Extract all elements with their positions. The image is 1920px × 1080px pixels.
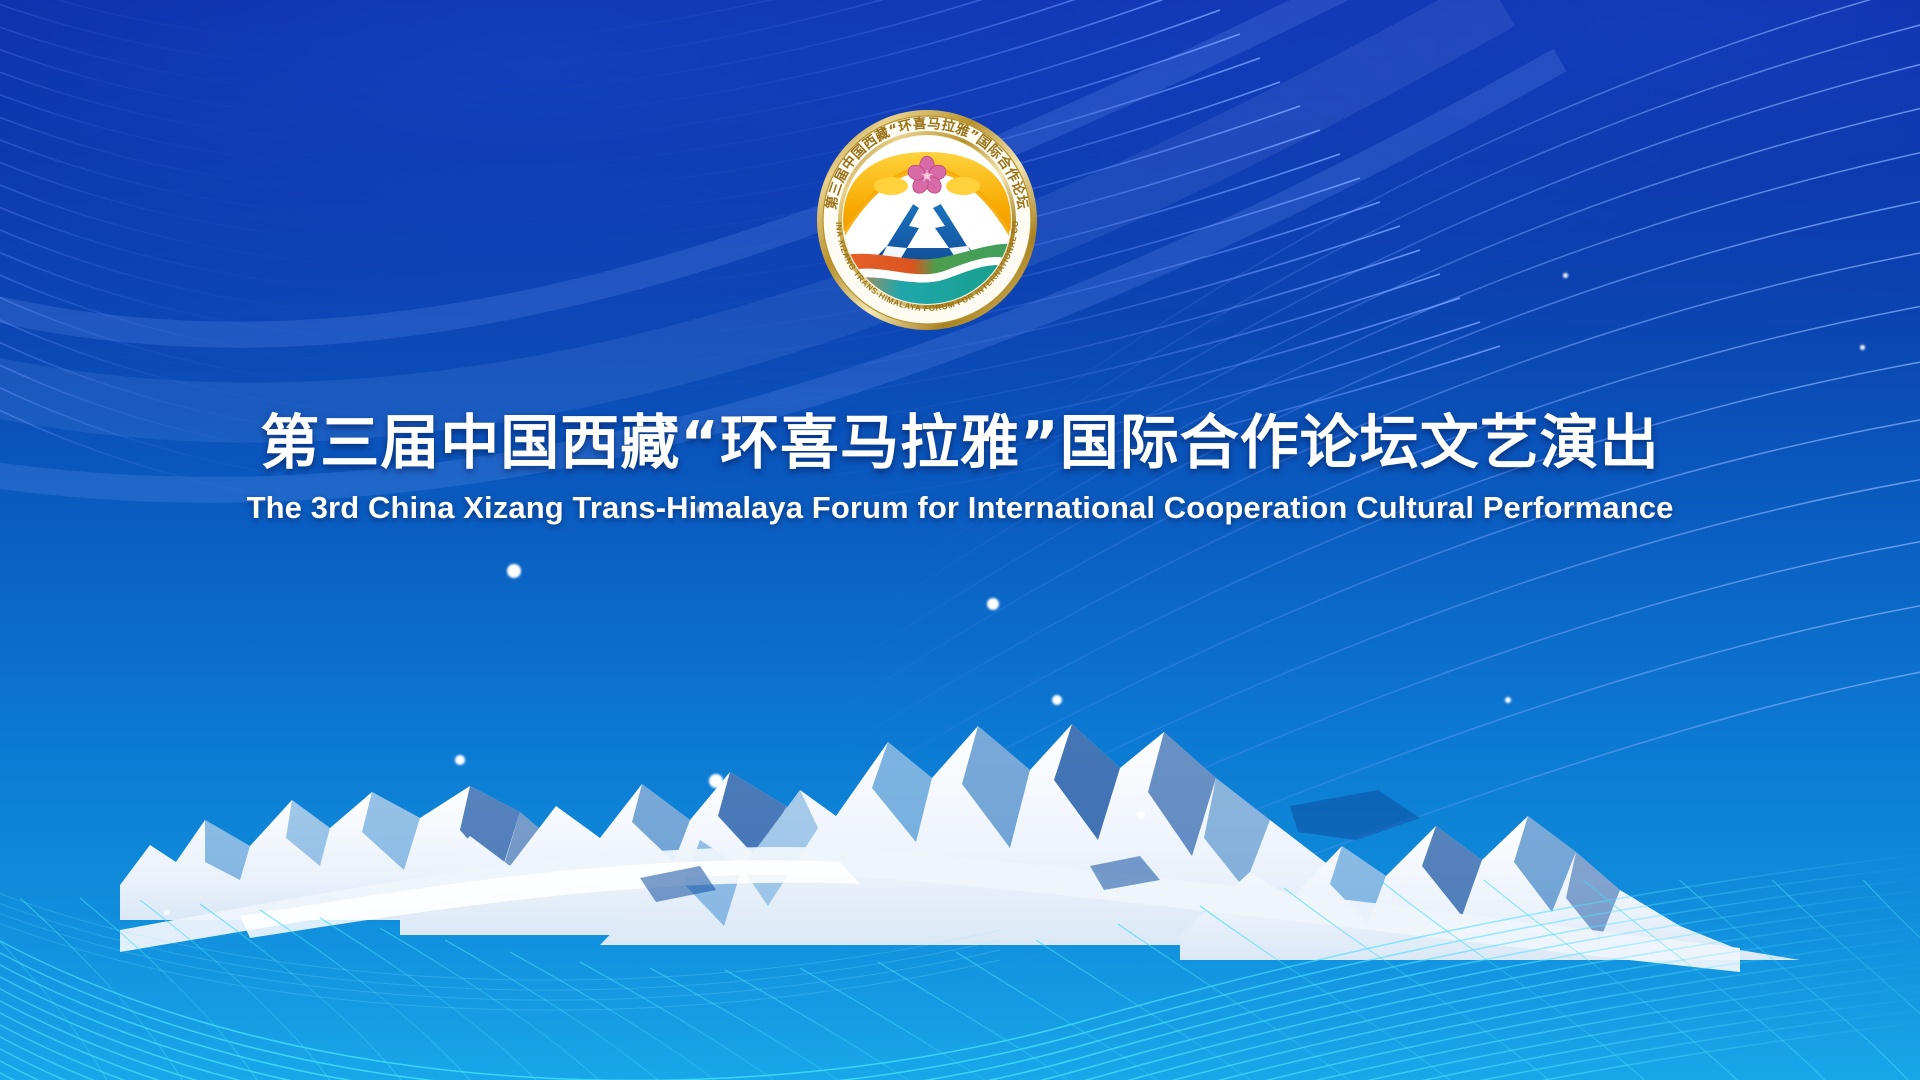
sparkle-dot: [1505, 697, 1511, 703]
page-title-cn: 第三届中国西藏“环喜马拉雅”国际合作论坛文艺演出: [0, 408, 1920, 478]
forum-emblem-svg: 第三届中国西藏“环喜马拉雅”国际合作论坛 THE 3RD CHINA XIZAN…: [815, 108, 1039, 332]
emblem-lobe-left: [874, 177, 908, 195]
sparkle-dot: [1563, 273, 1568, 278]
sparkle-dot: [455, 755, 465, 765]
sparkle-dot: [1860, 345, 1865, 350]
title-block: 第三届中国西藏“环喜马拉雅”国际合作论坛文艺演出 The 3rd China X…: [0, 408, 1920, 526]
sparkle-dot: [1137, 811, 1145, 819]
sparkle-dot: [709, 774, 723, 788]
sparkle-dot: [1052, 695, 1062, 705]
page-title-en: The 3rd China Xizang Trans-Himalaya Foru…: [0, 490, 1920, 526]
forum-emblem: 第三届中国西藏“环喜马拉雅”国际合作论坛 THE 3RD CHINA XIZAN…: [815, 108, 1039, 332]
sparkle-dot: [164, 910, 169, 915]
sparkle-dot: [987, 598, 999, 610]
sparkle-dot: [507, 564, 521, 578]
poster-canvas: 第三届中国西藏“环喜马拉雅”国际合作论坛 THE 3RD CHINA XIZAN…: [0, 0, 1920, 1080]
emblem-lobe-right: [946, 177, 980, 195]
